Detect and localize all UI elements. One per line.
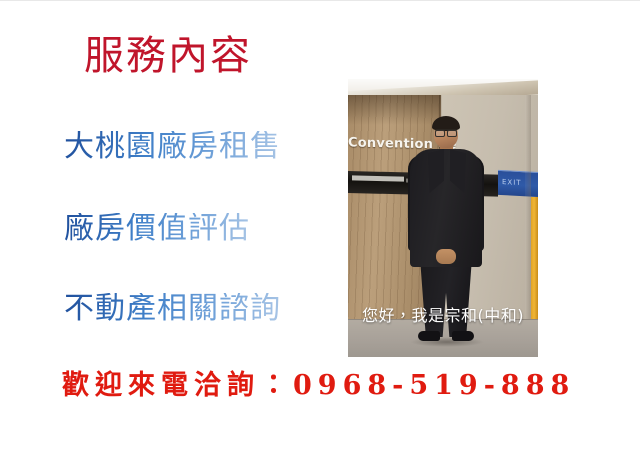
- photo-caption: 您好，我是宗和(中和): [348, 306, 538, 325]
- service-item-2: 廠房價值評估: [64, 213, 250, 245]
- glasses-icon: [435, 129, 457, 136]
- wood-wall-shadow: [348, 95, 441, 125]
- person-hands: [436, 249, 456, 264]
- person-shoe-right: [452, 331, 474, 341]
- person-shoe-left: [418, 331, 440, 341]
- blue-wall-sign-text: EXIT: [502, 178, 522, 187]
- service-item-1: 大桃園廠房租售: [64, 131, 281, 163]
- page-title: 服務內容: [84, 35, 252, 77]
- blue-wall-sign: EXIT: [498, 170, 538, 197]
- service-item-3: 不動產相關諮詢: [64, 293, 281, 325]
- contact-phone-line: 歡迎來電洽詢：0968-519-888: [62, 371, 575, 401]
- slide-canvas: 服務內容 大桃園廠房租售 廠房價值評估 不動產相關諮詢 歡迎來電洽詢：0968-…: [0, 0, 640, 451]
